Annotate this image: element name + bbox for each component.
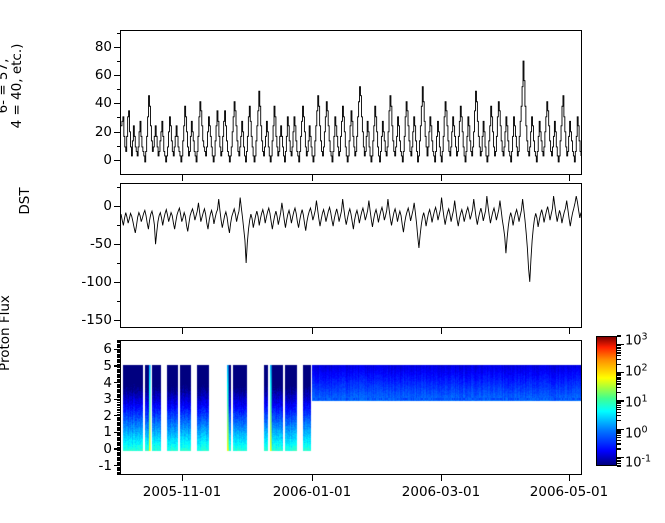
dst-ytick-label-m50: -50 (66, 236, 112, 252)
colorbar-tick-minor (617, 348, 621, 349)
figure-canvas: Kp (e.g. 3+ = 33, 6- = 57, 4 = 40, etc.)… (0, 0, 665, 523)
colorbar-tick-minor (617, 347, 621, 348)
colorbar-tick-minor (617, 435, 621, 436)
dst-ytick-mark (114, 320, 120, 321)
proton-ytick-label: 2 (66, 408, 112, 424)
colorbar-tick-minor (617, 335, 621, 336)
colorbar-tick-minor (617, 359, 621, 360)
dst-ytick-label-0: 0 (66, 198, 112, 214)
proton-ytick-minor (117, 350, 120, 351)
dst-ytick-mark (114, 206, 120, 207)
proton-ytick-minor (117, 467, 120, 468)
kp-ytick-label-0: 0 (70, 152, 112, 168)
proton-ytick-minor (117, 347, 120, 348)
colorbar-tick-minor (617, 405, 621, 406)
proton-ytick-minor (117, 452, 120, 453)
kp-ytick-mark (114, 132, 120, 133)
dst-xtick-mark (182, 328, 183, 334)
colorbar-tick-minor (617, 350, 621, 351)
proton-ytick-minor (117, 445, 120, 446)
proton-ytick-minor (117, 430, 120, 431)
colorbar-tick-minor (617, 430, 621, 431)
proton-axis-title: Proton Flux (0, 295, 13, 371)
kp-xtick-mark (182, 175, 183, 181)
proton-ytick-minor (117, 389, 120, 390)
proton-ytick-minor (117, 440, 120, 441)
kp-ytick-minor (117, 146, 120, 147)
proton-ytick-minor (117, 473, 120, 474)
proton-ytick-minor (117, 387, 120, 388)
proton-ytick-minor (117, 468, 120, 469)
dst-ytick-mark (114, 282, 120, 283)
proton-ytick-minor (117, 377, 120, 378)
proton-ytick-minor (117, 374, 120, 375)
proton-ytick-minor (117, 354, 120, 355)
kp-ytick-minor (117, 89, 120, 90)
proton-ytick-minor (117, 462, 120, 463)
colorbar (596, 336, 617, 466)
proton-ytick-minor (117, 472, 120, 473)
dst-ytick-minor (117, 225, 120, 226)
kp-ytick-label-40: 40 (70, 95, 112, 111)
colorbar-tick-minor (617, 352, 621, 353)
colorbar-tick-minor (617, 465, 621, 466)
proton-ytick-minor (117, 457, 120, 458)
colorbar-label-1e3: 103 (625, 331, 648, 348)
colorbar-label-1em1: 10-1 (625, 453, 651, 470)
proton-ytick-minor (117, 357, 120, 358)
proton-ytick-label: 0 (66, 441, 112, 457)
proton-ytick-minor (117, 372, 120, 373)
proton-xtick-mark (441, 475, 442, 481)
proton-ytick-label: 1 (66, 424, 112, 440)
colorbar-tick-minor (617, 458, 621, 459)
proton-ytick-minor (117, 460, 120, 461)
dst-ytick-minor (117, 187, 120, 188)
proton-ytick-minor (117, 437, 120, 438)
proton-ytick-minor (117, 423, 120, 424)
proton-ytick-minor (117, 438, 120, 439)
proton-ytick-minor (117, 455, 120, 456)
proton-ytick-minor (117, 428, 120, 429)
proton-ytick-minor (117, 355, 120, 356)
proton-ytick-minor (117, 375, 120, 376)
colorbar-tick-minor (617, 402, 621, 403)
proton-ytick-minor (117, 369, 120, 370)
proton-ytick-minor (117, 404, 120, 405)
kp-ytick-label-80: 80 (70, 39, 112, 55)
colorbar-tick-minor (617, 420, 621, 421)
proton-ytick-minor (117, 407, 120, 408)
colorbar-tick-minor (617, 463, 621, 464)
kp-ytick-minor (117, 117, 120, 118)
dst-xtick-mark (569, 328, 570, 334)
colorbar-label-1e2: 102 (625, 362, 648, 379)
proton-ytick-minor (117, 402, 120, 403)
proton-ytick-minor (117, 414, 120, 415)
proton-ytick-minor (117, 442, 120, 443)
xtick-label-2: 2006-01-01 (273, 484, 351, 500)
colorbar-tick-minor (617, 355, 621, 356)
dst-ytick-minor (117, 301, 120, 302)
dst-xtick-mark (441, 328, 442, 334)
proton-ytick-minor (117, 412, 120, 413)
proton-ytick-minor (117, 420, 120, 421)
colorbar-tick-minor (617, 375, 621, 376)
proton-ytick-minor (117, 458, 120, 459)
proton-ytick-minor (117, 395, 120, 396)
proton-ytick-label: 6 (66, 341, 112, 357)
proton-ytick-minor (117, 463, 120, 464)
colorbar-label-1e1: 101 (625, 393, 648, 410)
colorbar-tick-minor (617, 415, 621, 416)
proton-ytick-minor (117, 427, 120, 428)
dst-ytick-minor (117, 263, 120, 264)
colorbar-tick-minor (617, 461, 621, 462)
kp-ytick-mark (114, 47, 120, 48)
colorbar-label-1e0: 100 (625, 424, 648, 441)
proton-ytick-minor (117, 417, 120, 418)
xtick-label-3: 2006-03-01 (402, 484, 480, 500)
proton-ytick-minor (117, 397, 120, 398)
proton-ytick-minor (117, 359, 120, 360)
proton-ytick-minor (117, 409, 120, 410)
proton-ytick-minor (117, 400, 120, 401)
proton-ytick-minor (117, 453, 120, 454)
proton-xtick-mark (182, 475, 183, 481)
kp-ytick-mark (114, 160, 120, 161)
colorbar-tick-minor (617, 373, 621, 374)
proton-ytick-minor (117, 390, 120, 391)
xtick-label-1: 2005-11-01 (143, 484, 221, 500)
colorbar-tick-minor (617, 381, 621, 382)
proton-ytick-minor (117, 425, 120, 426)
colorbar-tick-minor (617, 378, 621, 379)
colorbar-tick-minor (617, 460, 621, 461)
colorbar-tick-minor (617, 407, 621, 408)
dst-ytick-label-m100: -100 (66, 274, 112, 290)
colorbar-tick-minor (617, 364, 621, 365)
colorbar-tick-minor (617, 412, 621, 413)
colorbar-tick-minor (617, 403, 621, 404)
proton-ytick-minor (117, 418, 120, 419)
kp-axis-title-line-4: 4 = 40, etc.) (10, 21, 25, 151)
proton-ytick-minor (117, 447, 120, 448)
xtick-label-4: 2006-05-01 (530, 484, 608, 500)
dst-xtick-mark (312, 328, 313, 334)
colorbar-tick-minor (617, 431, 621, 432)
proton-flux-spectrogram (121, 341, 581, 474)
colorbar-tick-minor (617, 387, 621, 388)
proton-ytick-minor (117, 370, 120, 371)
colorbar-tick-minor (617, 433, 621, 434)
proton-xtick-mark (569, 475, 570, 481)
proton-ytick-minor (117, 360, 120, 361)
proton-ytick-minor (117, 362, 120, 363)
dst-ytick-mark (114, 244, 120, 245)
proton-ytick-minor (117, 352, 120, 353)
dst-axis-title: DST (17, 187, 33, 214)
kp-xtick-mark (312, 175, 313, 181)
proton-ytick-label: 3 (66, 391, 112, 407)
proton-ytick-minor (117, 394, 120, 395)
proton-ytick-minor (117, 435, 120, 436)
proton-ytick-minor (117, 340, 120, 341)
proton-ytick-label: 5 (66, 358, 112, 374)
proton-ytick-minor (117, 385, 120, 386)
proton-ytick-minor (117, 342, 120, 343)
proton-ytick-minor (117, 470, 120, 471)
kp-xtick-mark (441, 175, 442, 181)
proton-ytick-minor (117, 422, 120, 423)
proton-ytick-minor (117, 345, 120, 346)
proton-ytick-minor (117, 364, 120, 365)
proton-ytick-label: 4 (66, 375, 112, 391)
colorbar-tick-minor (617, 448, 621, 449)
colorbar-tick-minor (617, 383, 621, 384)
proton-ytick-minor (117, 379, 120, 380)
dst-ytick-label-m150: -150 (66, 312, 112, 328)
kp-ytick-minor (117, 61, 120, 62)
proton-ytick-minor (117, 405, 120, 406)
proton-xtick-mark (312, 475, 313, 481)
colorbar-tick-minor (617, 443, 621, 444)
colorbar-tick-minor (617, 392, 621, 393)
kp-series (121, 31, 581, 174)
kp-ytick-label-60: 60 (70, 67, 112, 83)
kp-ytick-minor (117, 33, 120, 34)
proton-ytick-minor (117, 443, 120, 444)
proton-ytick-minor (117, 410, 120, 411)
proton-ytick-minor (117, 384, 120, 385)
proton-ytick-minor (117, 380, 120, 381)
proton-ytick-minor (117, 392, 120, 393)
kp-ytick-mark (114, 103, 120, 104)
colorbar-tick-minor (617, 409, 621, 410)
kp-ytick-mark (114, 75, 120, 76)
proton-ytick-minor (117, 344, 120, 345)
kp-xtick-mark (569, 175, 570, 181)
colorbar-tick-minor (617, 377, 621, 378)
proton-ytick-minor (117, 433, 120, 434)
kp-ytick-label-20: 20 (70, 124, 112, 140)
proton-ytick-minor (117, 367, 120, 368)
dst-series (121, 184, 581, 327)
colorbar-tick-minor (617, 437, 621, 438)
colorbar-tick-minor (617, 440, 621, 441)
colorbar-tick-minor (617, 345, 621, 346)
proton-ytick-label: -1 (66, 458, 112, 474)
proton-ytick-minor (117, 450, 120, 451)
